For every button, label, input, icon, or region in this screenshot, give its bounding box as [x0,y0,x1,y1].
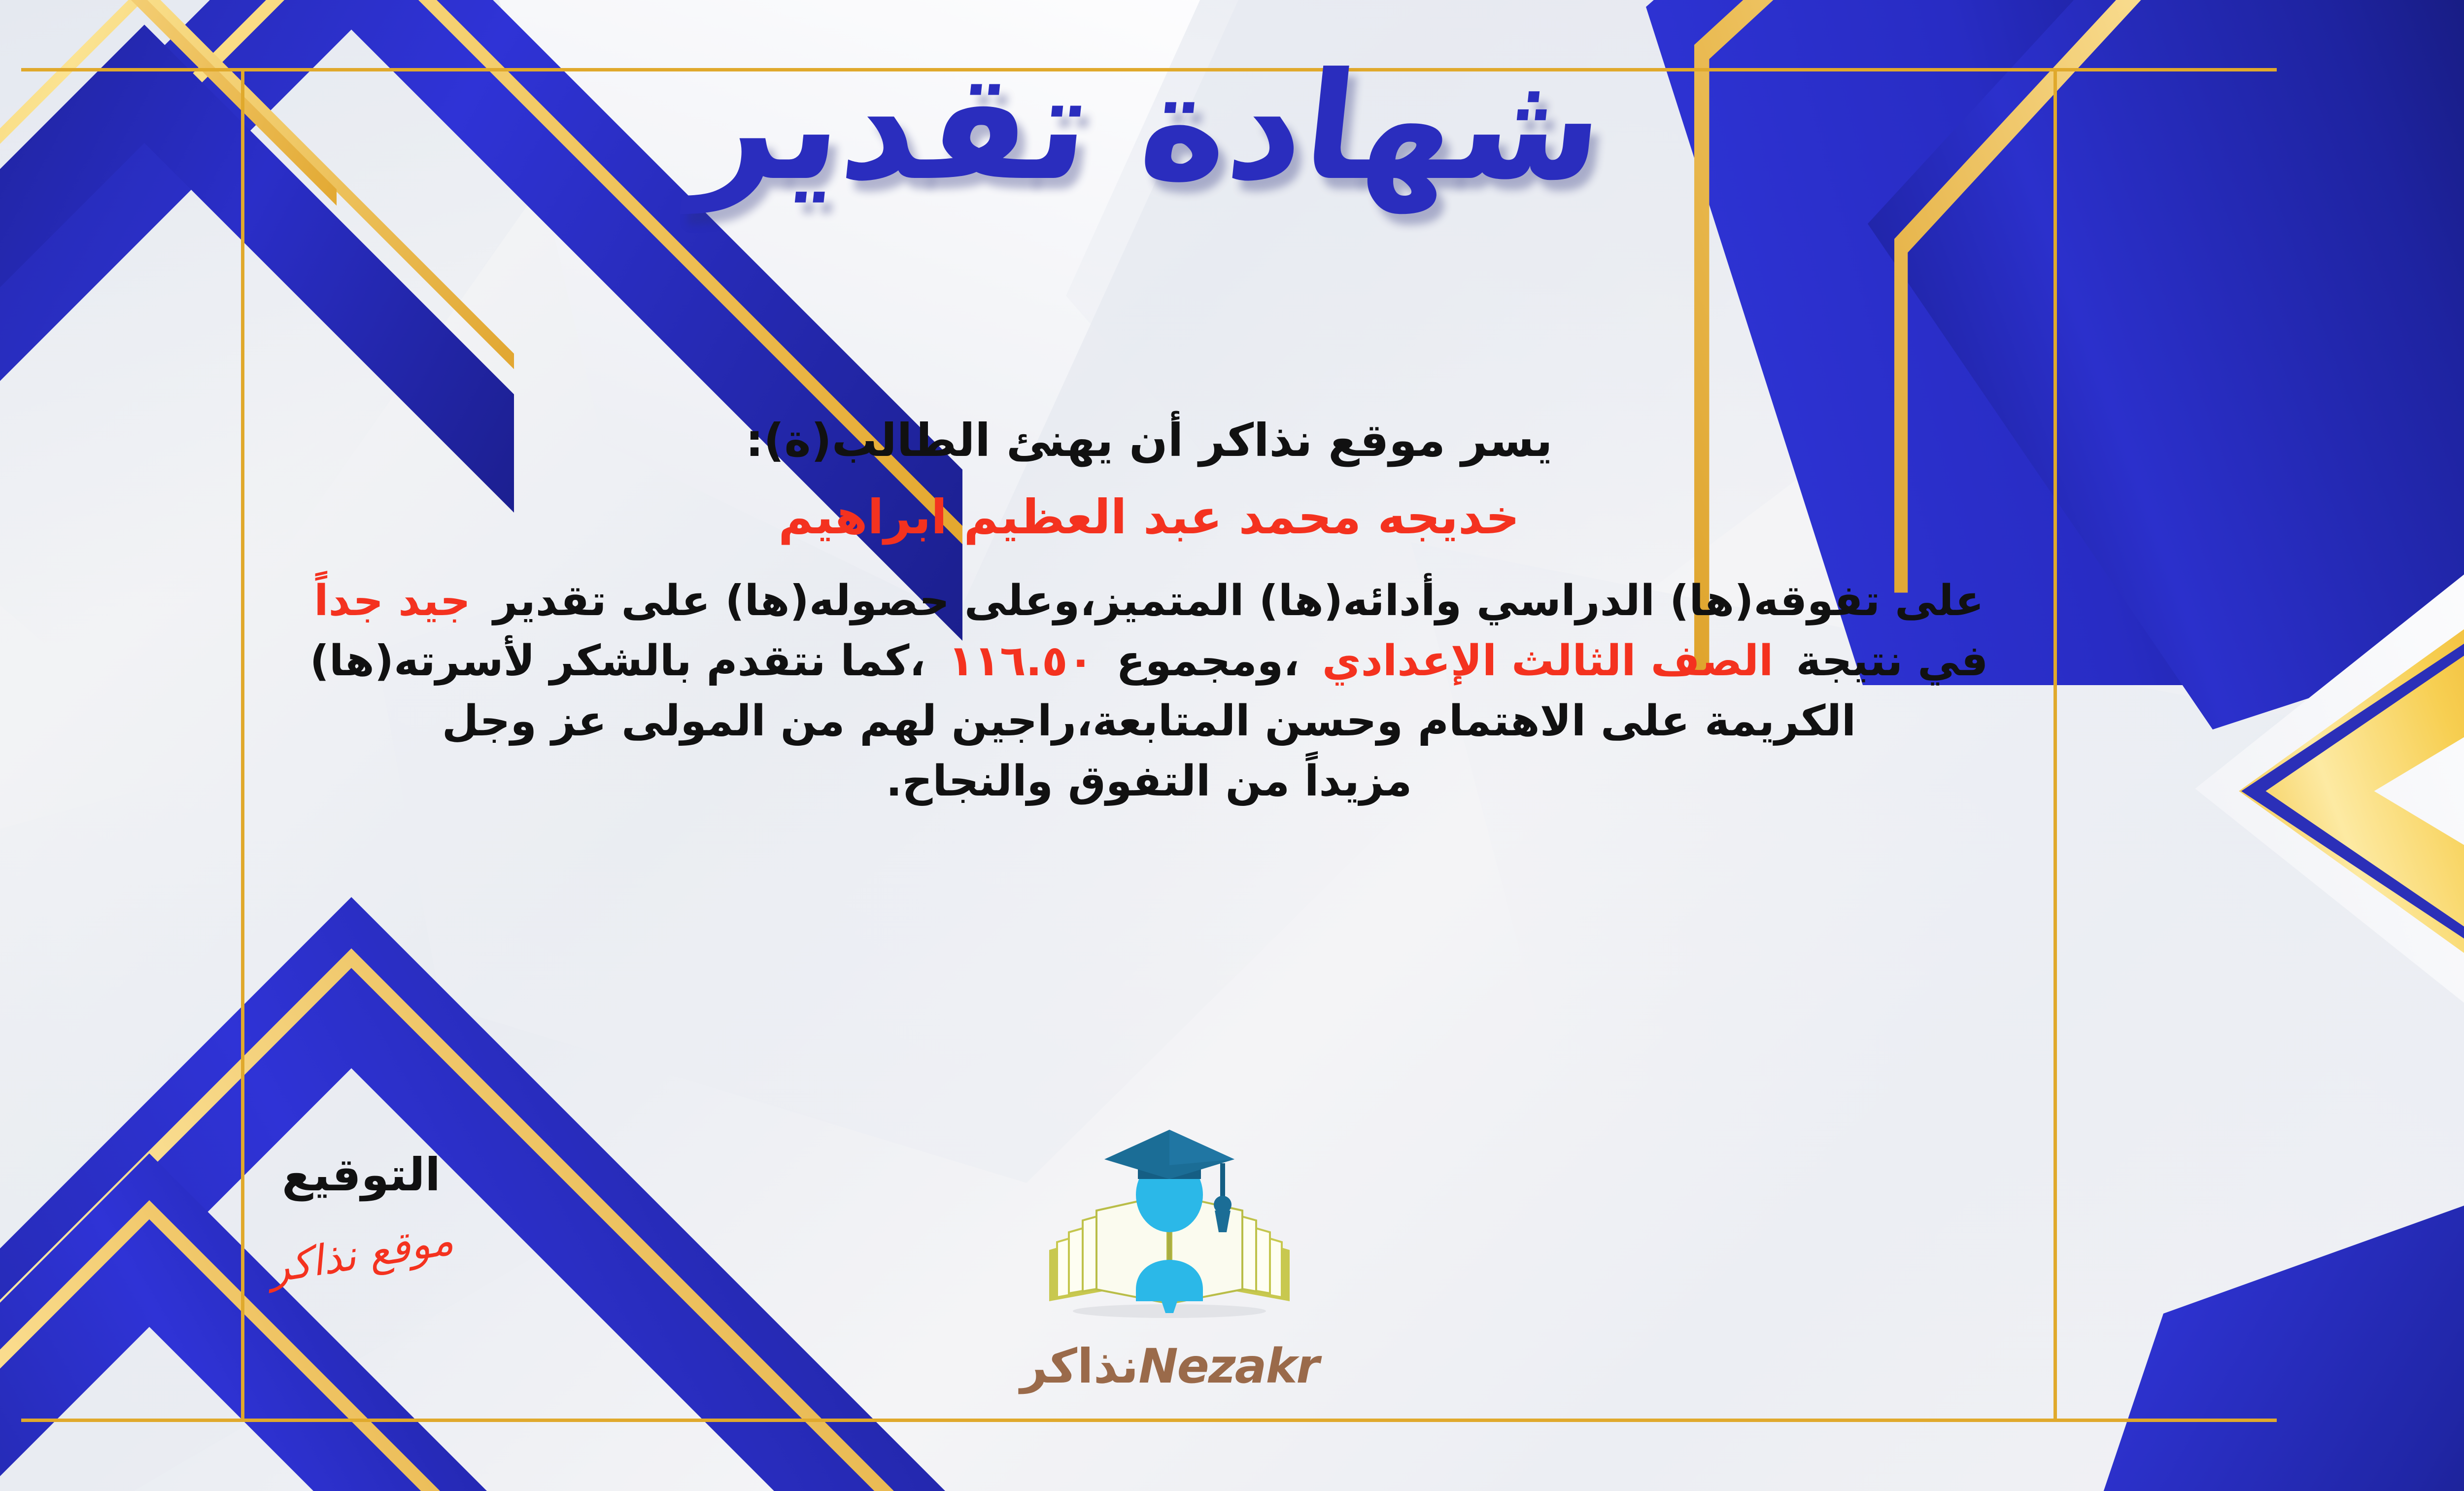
student-name: خديجه محمد عبد العظيم ابراهيم [0,489,2316,545]
award-line-6: مزيداً من التفوق والنجاح. [0,751,2316,811]
logo-latin-text: Nezakr [1138,1339,1318,1394]
award-line-3: على تفوقه(ها) الدراسي وأدائه(ها) المتميز… [0,571,2316,631]
signature-block: التوقيع موقع نذاكر [223,1148,499,1278]
brand-logo: Nezakrنذاكر [982,1124,1357,1394]
signature-mark: موقع نذاكر [266,1215,457,1292]
logo-arabic-text: نذاكر [1020,1339,1138,1394]
certificate-canvas: شهادة تقدير يسر موقع نذاكر أن يهنئ الطال… [0,0,2464,1491]
graduate-on-book-icon [1041,1124,1298,1336]
grade-value: جيد جداً [314,576,471,625]
thanks-text: ،كما نتقدم بالشكر لأسرته(ها) [310,636,925,686]
award-text-part-1: على تفوقه(ها) الدراسي وأدائه(ها) المتميز… [493,576,1984,625]
result-prefix: في نتيجة [1796,636,1988,686]
certificate-title: شهادة تقدير [0,53,2464,201]
award-line-5: الكريمة على الاهتمام وحسن المتابعة،راجين… [0,691,2316,751]
award-paragraph: على تفوقه(ها) الدراسي وأدائه(ها) المتميز… [0,571,2316,811]
stage-value: الصف الثالث الإعدادي [1322,636,1774,686]
award-line-4: في نتيجةالصف الثالث الإعدادي،ومجموع١١٦.٥… [0,631,2316,691]
total-score-value: ١١٦.٥٠ [948,636,1094,686]
greeting-line: يسر موقع نذاكر أن يهنئ الطالب(ة): [0,414,2316,468]
logo-wordmark: Nezakrنذاكر [982,1339,1357,1394]
signature-label: التوقيع [223,1148,499,1201]
total-prefix: ،ومجموع [1116,636,1300,686]
certificate-body: يسر موقع نذاكر أن يهنئ الطالب(ة): خديجه … [0,414,2316,811]
